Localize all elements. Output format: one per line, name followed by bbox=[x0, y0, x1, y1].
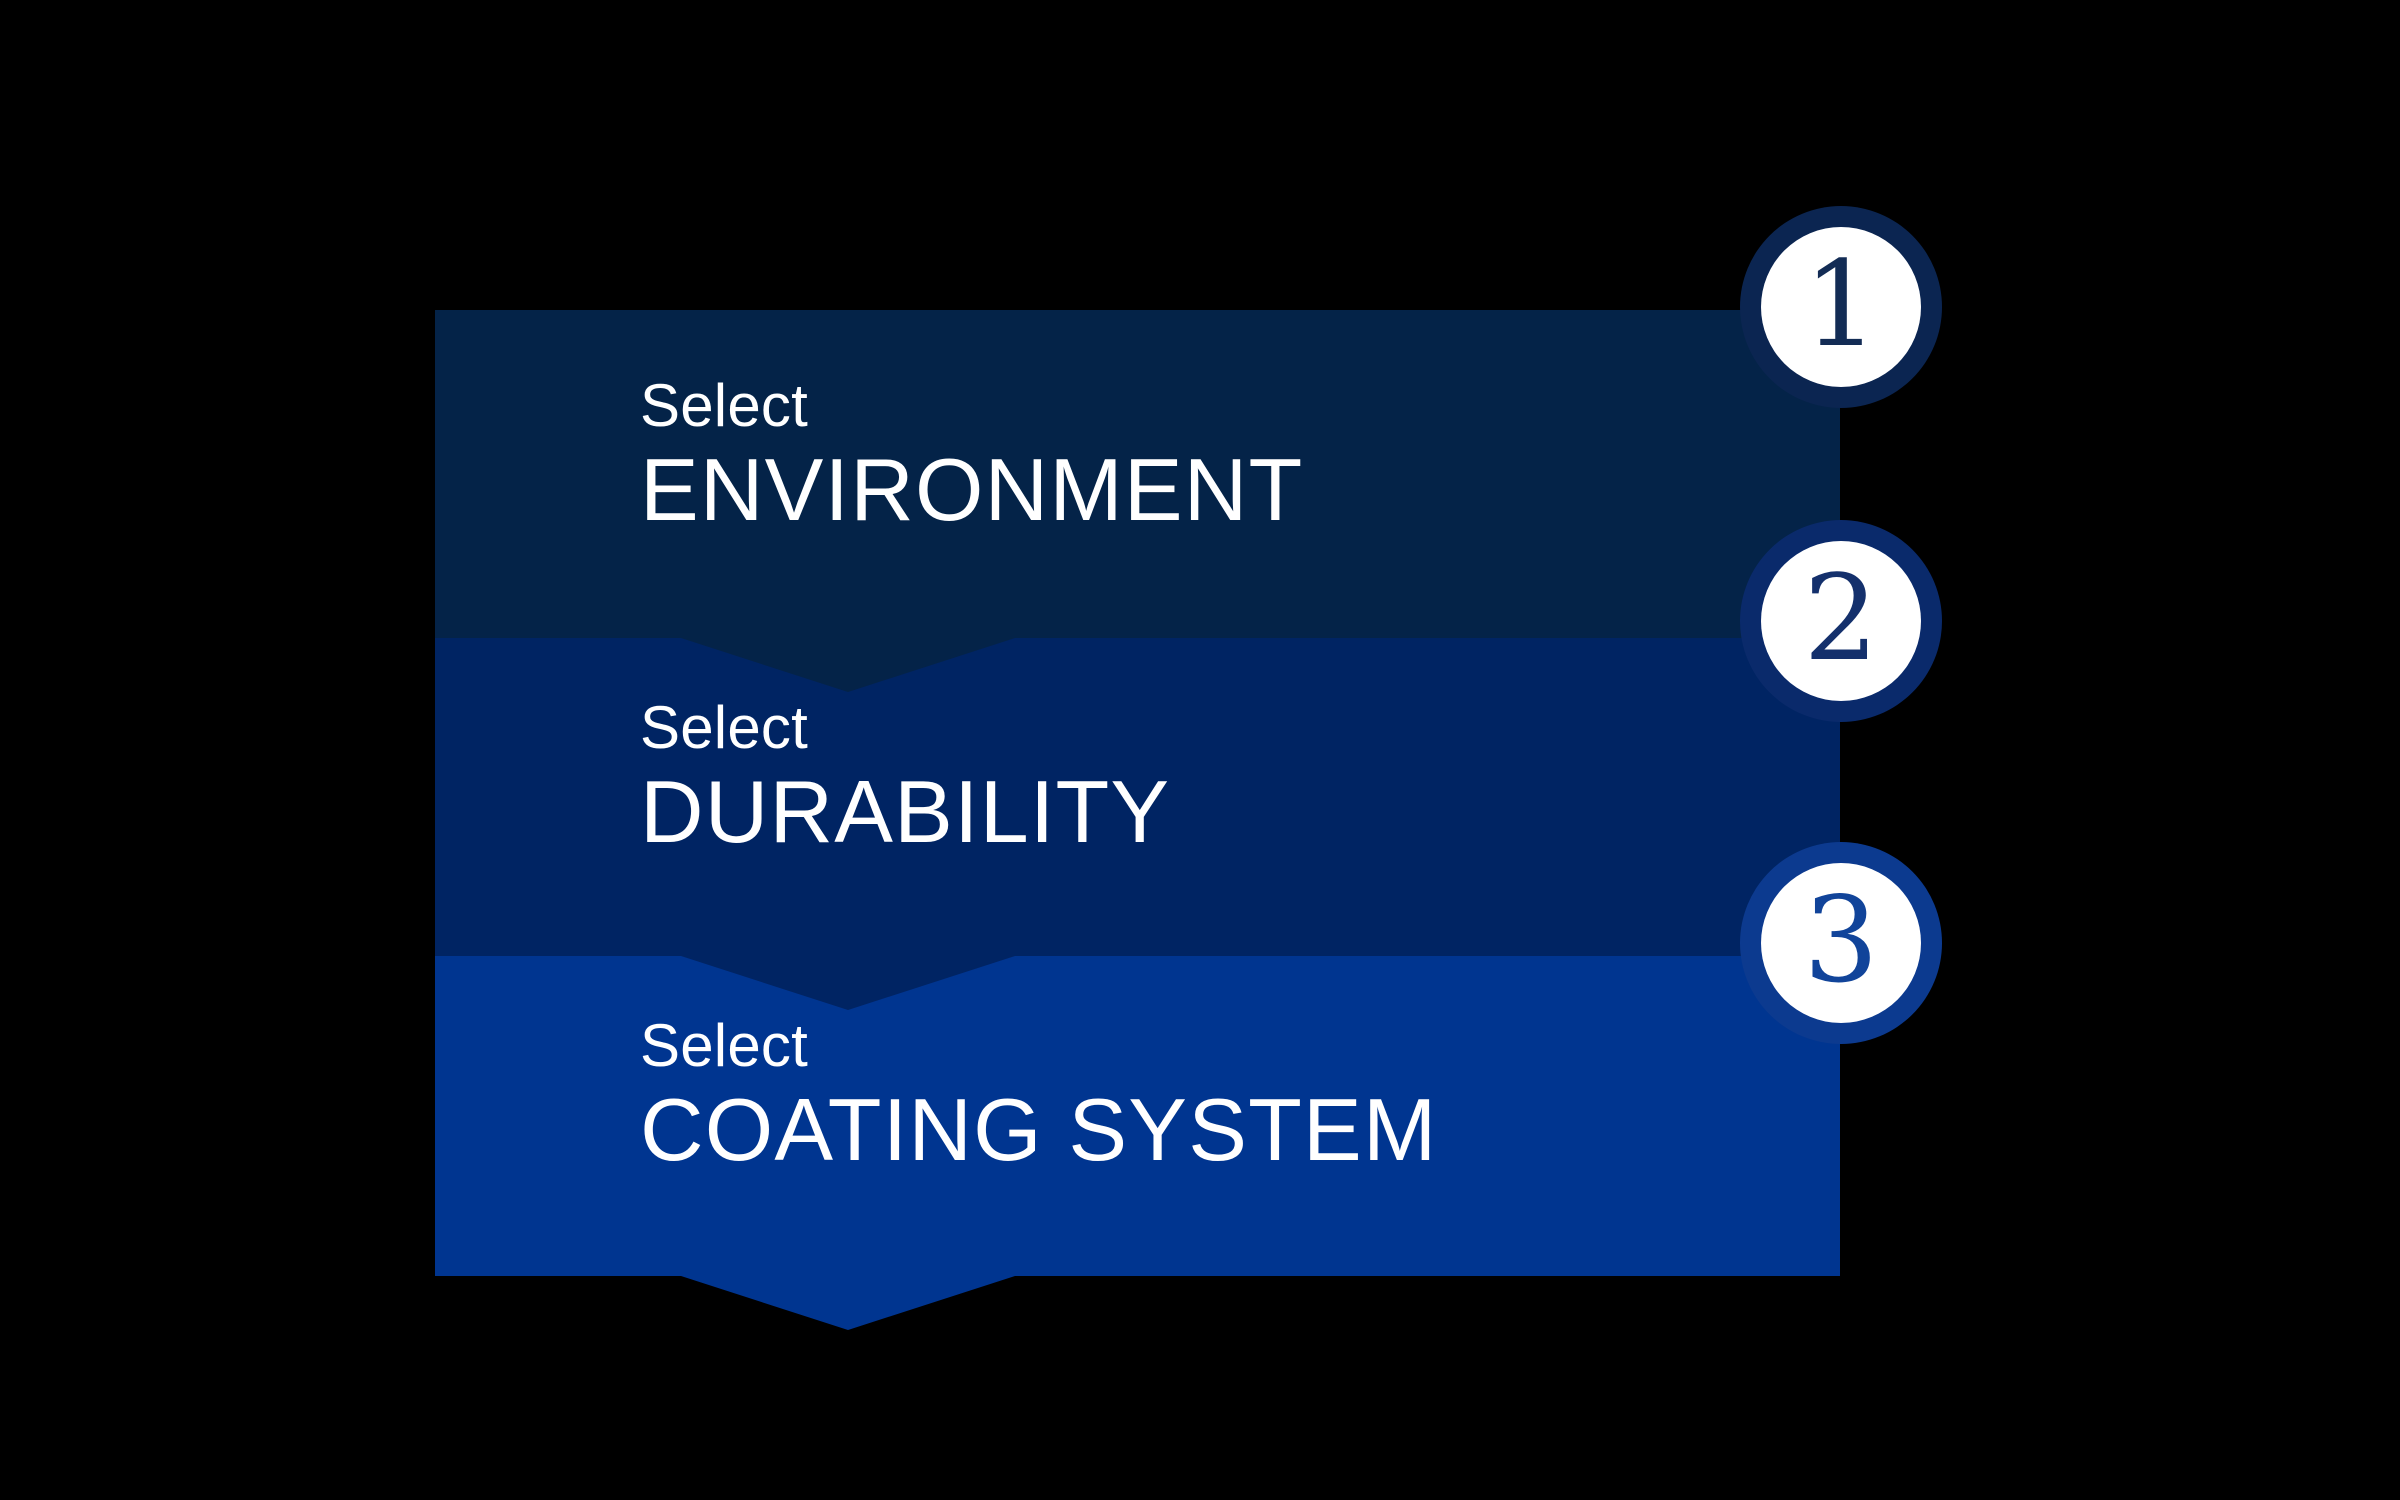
step-kicker-3: Select bbox=[640, 1016, 1437, 1076]
step-band-environment[interactable]: Select ENVIRONMENT bbox=[435, 310, 1840, 692]
step-number-badge-3[interactable]: 3 bbox=[1732, 834, 1950, 1052]
step-number-badge-2[interactable]: 2 bbox=[1732, 512, 1950, 730]
step-number-badge-1[interactable]: 1 bbox=[1732, 198, 1950, 416]
step-kicker-1: Select bbox=[640, 376, 1303, 436]
step-text-2: Select DURABILITY bbox=[640, 698, 1170, 856]
step-title-2: DURABILITY bbox=[640, 768, 1170, 856]
step-text-3: Select COATING SYSTEM bbox=[640, 1016, 1437, 1174]
badge-number-label-1: 1 bbox=[1732, 198, 1950, 416]
badge-number-label-2: 2 bbox=[1732, 512, 1950, 730]
canvas-root: Select ENVIRONMENT Select DURABILITY bbox=[0, 0, 2400, 1500]
step-title-1: ENVIRONMENT bbox=[640, 446, 1303, 534]
step-stack: Select ENVIRONMENT Select DURABILITY bbox=[435, 310, 1840, 1330]
step-text-1: Select ENVIRONMENT bbox=[640, 376, 1303, 534]
step-kicker-2: Select bbox=[640, 698, 1170, 758]
badge-number-label-3: 3 bbox=[1732, 834, 1950, 1052]
step-title-3: COATING SYSTEM bbox=[640, 1086, 1437, 1174]
